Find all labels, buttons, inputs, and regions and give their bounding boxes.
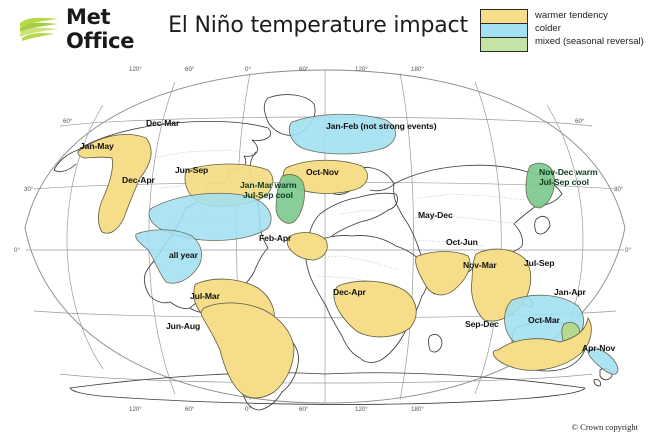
- map-label-jul-sep-aus: Jul-Sep: [524, 259, 554, 268]
- map-label-jun-sep-na: Jun-Sep: [175, 166, 208, 175]
- met-office-waves-icon: [18, 16, 60, 42]
- legend-label-warmer: warmer tendency: [535, 9, 644, 22]
- copyright-notice: © Crown copyright: [572, 422, 638, 432]
- map-label-dec-apr-africa: Dec-Apr: [333, 288, 366, 297]
- map-label-nov-dec-warm: Nov-Dec warm: [539, 168, 598, 177]
- region-may-dec: [416, 252, 470, 295]
- lon-tick-top-180: 180°: [411, 66, 424, 73]
- legend-label-mixed: mixed (seasonal reversal): [535, 35, 644, 48]
- region-feb-apr: [287, 233, 327, 260]
- legend-swatch-mixed: [481, 38, 527, 51]
- impact-regions: [78, 114, 618, 398]
- map-label-oct-jun: Oct-Jun: [446, 238, 478, 247]
- lon-tick-bottom-0: 0°: [245, 406, 251, 413]
- map-graphic: [0, 58, 650, 418]
- map-label-feb-apr: Feb-Apr: [259, 234, 291, 243]
- legend-label-colder: colder: [535, 22, 644, 35]
- met-office-logo: Met Office: [18, 14, 163, 44]
- lat-tick-right-60: 60°: [575, 118, 584, 125]
- lon-tick-bottom-60e: 60°: [299, 406, 308, 413]
- lat-tick-left-0: 0°: [14, 247, 20, 254]
- legend: warmer tendency colder mixed (seasonal r…: [480, 9, 644, 52]
- lon-tick-bottom-60w: 60°: [185, 406, 194, 413]
- world-map: 120° 60° 0° 60° 120° 180° 120° 60° 0° 60…: [0, 58, 650, 418]
- map-label-all-year: all year: [169, 251, 198, 260]
- legend-swatch-warmer: [481, 10, 527, 24]
- map-label-jan-mar-warm: Jan-Mar warm: [240, 181, 297, 190]
- lat-tick-right-30: 30°: [614, 186, 623, 193]
- lat-tick-left-60: 60°: [63, 118, 72, 125]
- map-label-jan-apr: Jan-Apr: [554, 288, 586, 297]
- map-label-may-dec: May-Dec: [418, 211, 453, 220]
- map-label-jan-feb: Jan-Feb (not strong events): [326, 122, 436, 131]
- map-label-dec-apr-mexico: Dec-Apr: [122, 176, 155, 185]
- lon-tick-top-120e: 120°: [355, 66, 368, 73]
- map-label-nov-mar: Nov-Mar: [463, 261, 497, 270]
- map-label-apr-nov: Apr-Nov: [582, 344, 615, 353]
- legend-swatch-colder: [481, 24, 527, 38]
- map-label-jul-sep-cool: Jul-Sep cool: [243, 191, 293, 200]
- lon-tick-bottom-120w: 120°: [129, 406, 142, 413]
- brand-name: Met Office: [66, 5, 163, 53]
- region-jul-mar: [201, 303, 294, 398]
- map-label-jan-may: Jan-May: [80, 142, 114, 151]
- lon-tick-top-120w: 120°: [129, 66, 142, 73]
- map-label-oct-mar: Oct-Mar: [528, 316, 560, 325]
- map-label-dec-mar: Dec-Mar: [146, 119, 179, 128]
- map-label-jul-sep-cool-j: Jul-Sep cool: [539, 178, 589, 187]
- lat-tick-right-0: 0°: [625, 247, 631, 254]
- lat-tick-left-30: 30°: [24, 186, 33, 193]
- page-header: Met Office El Niño temperature impact wa…: [0, 0, 650, 58]
- legend-labels: warmer tendency colder mixed (seasonal r…: [535, 9, 644, 52]
- legend-swatches: [480, 9, 528, 52]
- map-label-sep-dec: Sep-Dec: [465, 320, 499, 329]
- map-label-oct-nov: Oct-Nov: [306, 168, 339, 177]
- lon-tick-top-60w: 60°: [185, 66, 194, 73]
- lon-tick-top-60e: 60°: [299, 66, 308, 73]
- page-title: El Niño temperature impact: [168, 13, 468, 38]
- map-label-jun-aug: Jun-Aug: [166, 322, 200, 331]
- lon-tick-top-0: 0°: [245, 66, 251, 73]
- lon-tick-bottom-180: 180°: [411, 406, 424, 413]
- map-label-jul-mar: Jul-Mar: [190, 292, 220, 301]
- lon-tick-bottom-120e: 120°: [355, 406, 368, 413]
